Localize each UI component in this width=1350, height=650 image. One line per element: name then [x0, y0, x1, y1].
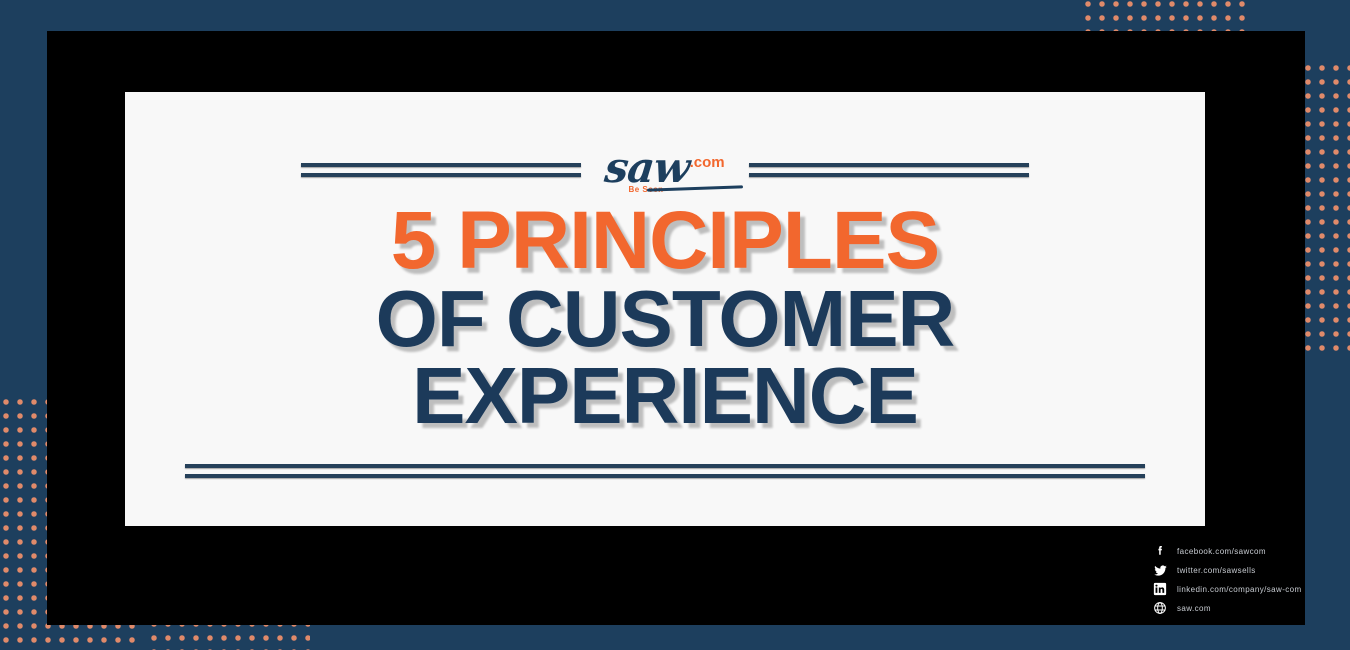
content-card: saw.com Be Seen 5 PRINCIPLES OF CUSTOMER…: [125, 92, 1205, 526]
twitter-icon: [1152, 562, 1168, 578]
social-item-website[interactable]: saw.com: [1152, 599, 1342, 617]
social-label-twitter: twitter.com/sawsells: [1177, 566, 1256, 575]
divider-bottom-line-2: [185, 474, 1145, 478]
social-item-twitter[interactable]: twitter.com/sawsells: [1152, 561, 1342, 579]
social-label-facebook: facebook.com/sawcom: [1177, 547, 1266, 556]
headline-line-2: OF CUSTOMER: [125, 281, 1205, 356]
linkedin-icon: [1152, 581, 1168, 597]
logo-domain-suffix: .com: [690, 155, 725, 170]
divider-left-line-2: [301, 173, 581, 177]
social-label-website: saw.com: [1177, 604, 1211, 613]
social-item-linkedin[interactable]: linkedin.com/company/saw-com: [1152, 580, 1342, 598]
divider-left-line-1: [301, 163, 581, 167]
logo-wordmark-text: saw: [603, 143, 692, 192]
divider-left: [301, 163, 581, 177]
social-label-linkedin: linkedin.com/company/saw-com: [1177, 585, 1302, 594]
divider-right-line-2: [749, 173, 1029, 177]
globe-icon: [1152, 600, 1168, 616]
social-item-facebook[interactable]: facebook.com/sawcom: [1152, 542, 1342, 560]
divider-bottom-line-1: [185, 464, 1145, 468]
facebook-icon: [1152, 543, 1168, 559]
divider-right: [749, 163, 1029, 177]
logo-wordmark: saw.com: [603, 147, 726, 189]
divider-bottom: [185, 464, 1145, 478]
logo-row: saw.com Be Seen: [125, 142, 1205, 198]
page-title: 5 PRINCIPLES OF CUSTOMER EXPERIENCE: [125, 202, 1205, 433]
headline-line-3: EXPERIENCE: [125, 358, 1205, 433]
divider-right-line-1: [749, 163, 1029, 167]
headline-line-1: 5 PRINCIPLES: [125, 202, 1205, 279]
saw-logo: saw.com Be Seen: [581, 147, 749, 194]
social-footer: facebook.com/sawcom twitter.com/sawsells…: [1152, 542, 1342, 618]
